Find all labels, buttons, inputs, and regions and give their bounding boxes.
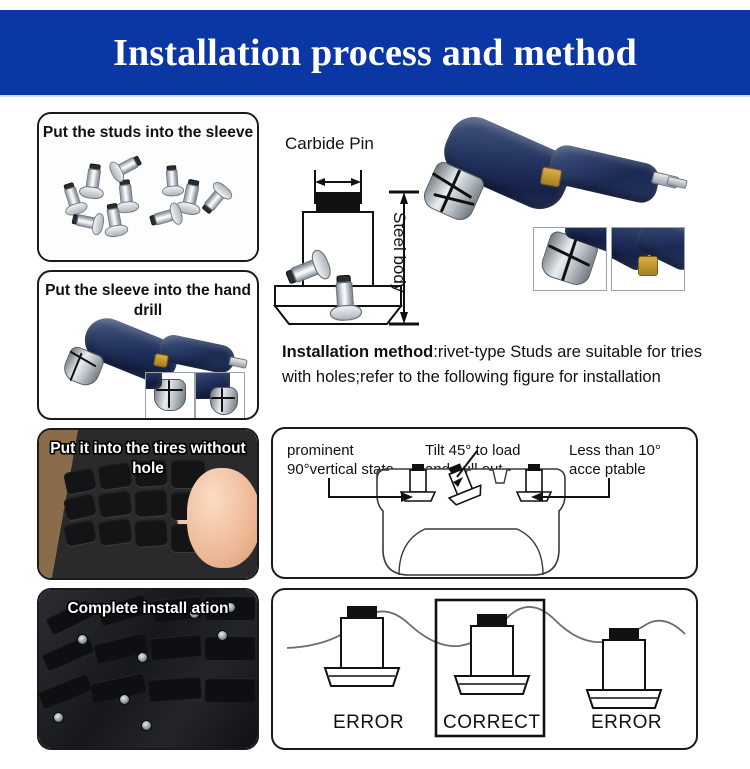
inset-brass-valve-closeup — [611, 227, 685, 291]
panel-put-sleeve-into-hand-drill: Put the sleeve into the hand drill — [37, 270, 259, 420]
panel-caption: Put the studs into the sleeve — [39, 123, 257, 143]
carbide-pin-label: Carbide Pin — [285, 134, 374, 153]
stud-correct-center — [455, 614, 529, 694]
stud-diagram-and-gun-area: Carbide Pin Steel body — [271, 112, 698, 330]
panel-complete-installation: Complete install ation — [37, 588, 259, 750]
tire-spike — [77, 634, 88, 645]
tire-spike — [141, 720, 152, 731]
panel-put-studs-into-sleeve: Put the studs into the sleeve — [37, 112, 259, 262]
tire-cross-section-figure — [273, 429, 698, 579]
steel-body-label: Steel body — [390, 212, 409, 292]
panel-put-into-tires-without-hole: Put it into the tires without hole — [37, 428, 259, 580]
panel-stud-angle-guidance: prominent 90°vertical state Tilt 45° to … — [271, 427, 698, 579]
panel-caption: Put it into the tires without hole — [39, 439, 257, 479]
inset-chuck-closeup — [533, 227, 607, 291]
page-title: Installation process and method — [113, 34, 637, 72]
panel-error-correct-examples: ERROR CORRECT ERROR — [271, 588, 698, 750]
tire-spike — [53, 712, 64, 723]
tire-spike — [119, 694, 130, 705]
page-header: Installation process and method — [0, 10, 750, 95]
label-error-right: ERROR — [591, 712, 662, 734]
gun-photo — [421, 112, 698, 330]
header-divider — [0, 95, 750, 97]
stud-error-left — [325, 606, 399, 686]
inset-chuck-closeup — [145, 372, 195, 420]
inset-brass-valve-closeup — [195, 372, 245, 420]
tire-spike — [137, 652, 148, 663]
label-correct: CORRECT — [443, 712, 540, 734]
panel-caption: Complete install ation — [39, 599, 257, 619]
installation-method-lead: Installation method — [282, 343, 433, 361]
installation-method-text: Installation method:rivet-type Studs are… — [282, 340, 702, 390]
panel-caption: Put the sleeve into the hand drill — [39, 281, 257, 321]
label-error-left: ERROR — [333, 712, 404, 734]
tire-spike — [217, 630, 228, 641]
stud-error-right — [587, 628, 661, 708]
